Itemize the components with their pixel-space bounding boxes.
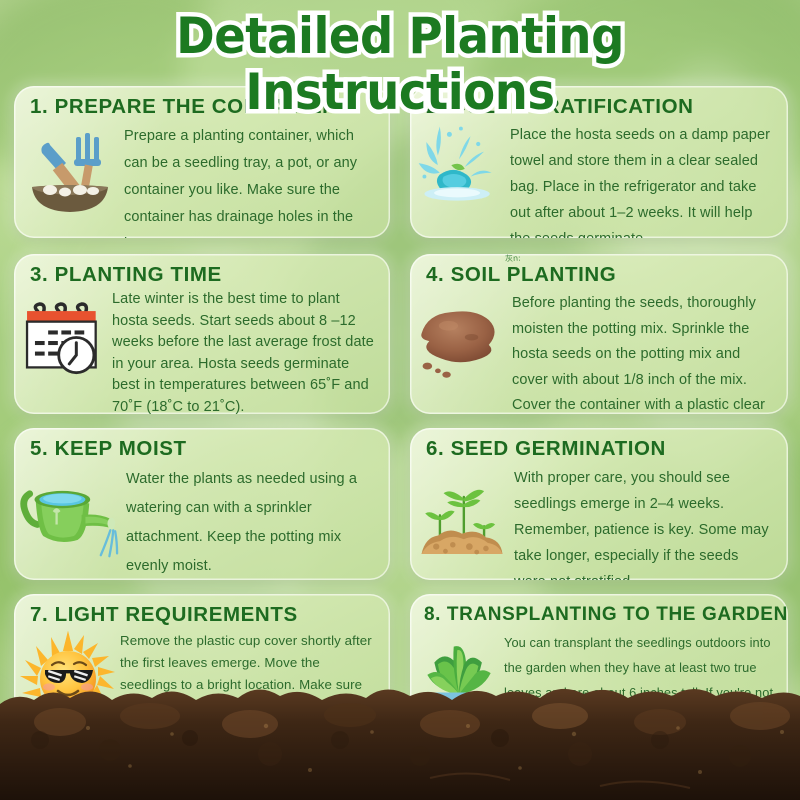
poster-title-wrap: Detailed Planting Instructions	[0, 8, 800, 120]
instruction-card-5[interactable]: 5. KEEP MOIST	[14, 428, 390, 580]
page-title: Detailed Planting Instructions	[28, 8, 772, 120]
card-1-body: Prepare a planting container, which can …	[14, 121, 390, 238]
card-6-paragraph: With proper care, you should see seedlin…	[512, 463, 788, 580]
card-2-paragraph: Place the hosta seeds on a damp paper to…	[508, 121, 788, 238]
instruction-card-3[interactable]: 3. PLANTING TIME	[14, 254, 390, 414]
card-6-body: With proper care, you should see seedlin…	[410, 463, 788, 580]
instruction-card-4[interactable]: 灰n: 4. SOIL PLANTING	[410, 254, 788, 414]
bowl-with-garden-tools-icon	[18, 117, 122, 221]
card-4-body: Before planting the seeds, thoroughly mo…	[410, 289, 788, 414]
calendar-clock-icon	[18, 287, 110, 395]
card-6-heading: 6. SEED GERMINATION	[410, 428, 788, 463]
instruction-card-6[interactable]: 6. SEED GERMINATION	[410, 428, 788, 580]
card-5-heading: 5. KEEP MOIST	[14, 428, 390, 463]
soil-patch-icon	[410, 291, 510, 395]
card-4-paragraph: Before planting the seeds, thoroughly mo…	[510, 289, 788, 414]
card-8-heading: 8. TRANSPLANTING TO THE GARDEN	[410, 594, 788, 629]
card-4-heading: 4. SOIL PLANTING	[410, 254, 788, 289]
water-splash-icon	[410, 115, 508, 219]
card-7-heading: 7. LIGHT REQUIREMENTS	[14, 594, 390, 629]
card-3-heading: 3. PLANTING TIME	[14, 254, 390, 289]
seedlings-in-soil-icon	[412, 467, 512, 571]
card-1-paragraph: Prepare a planting container, which can …	[122, 121, 390, 238]
soil-strip	[0, 670, 800, 800]
card-3-paragraph: Late winter is the best time to plant ho…	[110, 289, 390, 414]
watering-can-icon	[18, 461, 124, 565]
card-3-body: Late winter is the best time to plant ho…	[14, 289, 390, 414]
card-5-body: Water the plants as needed using a water…	[14, 463, 390, 580]
infographic-poster: Detailed Planting Instructions 1. PREPAR…	[0, 0, 800, 800]
card-5-paragraph: Water the plants as needed using a water…	[124, 463, 390, 580]
card-2-body: Place the hosta seeds on a damp paper to…	[410, 121, 788, 238]
